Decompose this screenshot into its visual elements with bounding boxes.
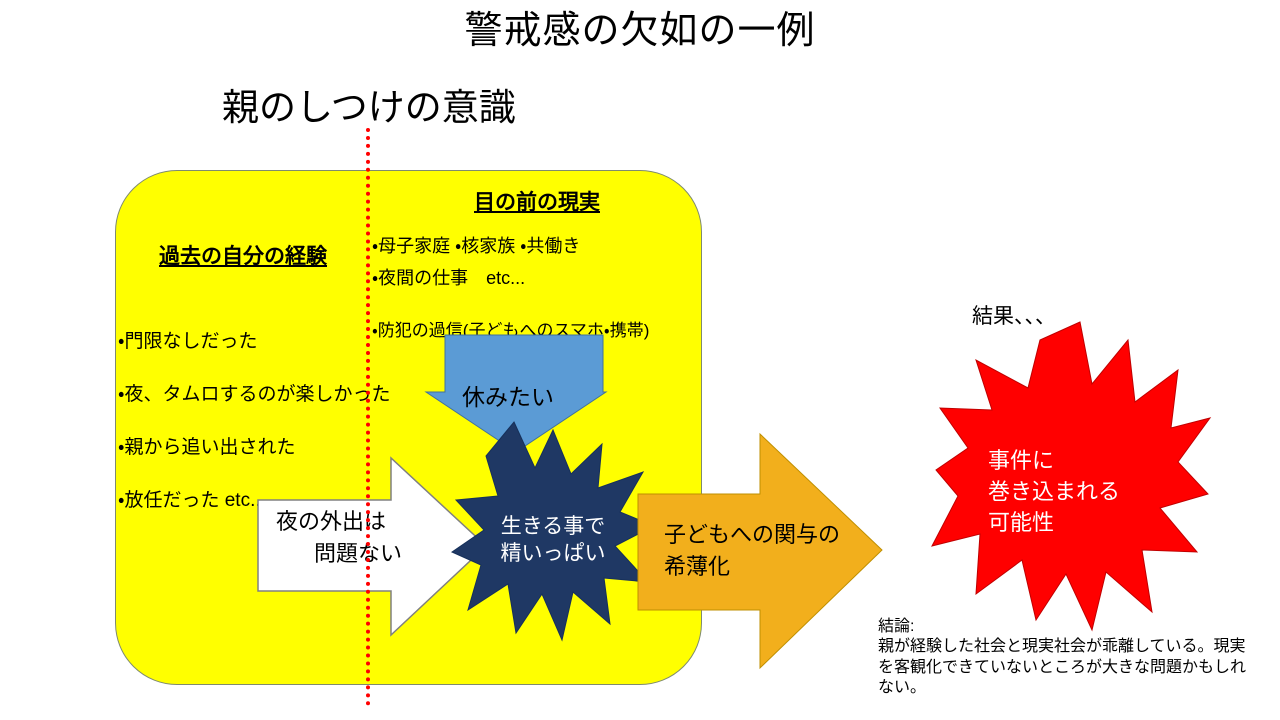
navy-star-label: 生きる事で 精いっぱい	[470, 513, 636, 568]
present-reality-heading: 目の前の現実	[372, 186, 702, 216]
white-arrow-label-line2: 問題ない	[276, 538, 402, 570]
dotted-divider-line	[366, 128, 370, 706]
orange-arrow-label-line1: 子どもへの関与の	[664, 519, 840, 551]
past-experience-heading: 過去の自分の経験	[118, 240, 368, 270]
navy-star-label-line2: 精いっぱい	[470, 540, 636, 567]
red-star-label: 事件に 巻き込まれる 可能性	[988, 445, 1120, 539]
list-item: ・母子家庭 ・核家族 ・共働き	[372, 232, 702, 258]
red-star-label-line1: 事件に	[988, 445, 1120, 476]
conclusion-body: 親が経験した社会と現実社会が乖離している。現実を客観化できていないところが大きな…	[878, 637, 1248, 698]
orange-arrow-label: 子どもへの関与の 希薄化	[664, 519, 840, 583]
list-item: ・夜、タムロするのが楽しかった	[118, 379, 368, 406]
conclusion-heading: 結論:	[878, 617, 1248, 637]
page-title: 警戒感の欠如の一例	[0, 11, 1280, 53]
slide-canvas: 警戒感の欠如の一例 親のしつけの意識 過去の自分の経験 ・門限なしだった ・夜、…	[0, 0, 1280, 720]
list-item: ・夜間の仕事 etc...	[372, 264, 702, 290]
red-star-label-line3: 可能性	[988, 507, 1120, 538]
list-item: ・門限なしだった	[118, 326, 368, 353]
red-star-label-line2: 巻き込まれる	[988, 476, 1120, 507]
white-arrow-label: 夜の外出は 問題ない	[276, 506, 402, 570]
orange-arrow-label-line2: 希薄化	[664, 551, 840, 583]
list-item: ・親から追い出された	[118, 432, 368, 459]
navy-star-label-line1: 生きる事で	[470, 513, 636, 540]
blue-arrow-label: 休みたい	[462, 378, 554, 412]
present-reality-column: 目の前の現実 ・母子家庭 ・核家族 ・共働き ・夜間の仕事 etc... ・防犯…	[372, 186, 702, 341]
page-subtitle: 親のしつけの意識	[222, 88, 516, 129]
conclusion-block: 結論: 親が経験した社会と現実社会が乖離している。現実を客観化できていないところ…	[878, 617, 1248, 699]
result-caption: 結果、、、	[972, 300, 1056, 330]
